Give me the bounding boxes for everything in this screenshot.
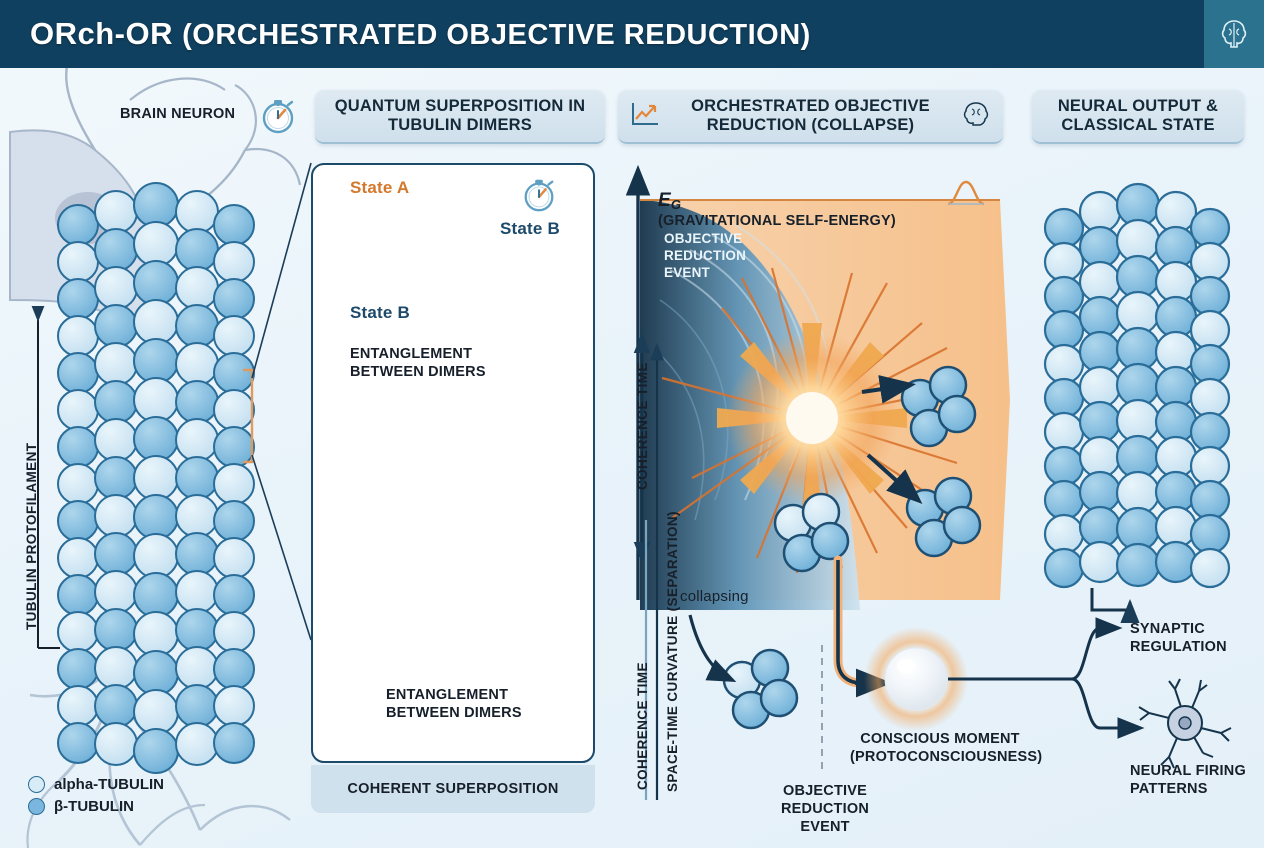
section-header-neural[interactable]: NEURAL OUTPUT & CLASSICAL STATE xyxy=(1032,90,1244,144)
coherent-superposition-footer: COHERENT SUPERPOSITION xyxy=(311,765,595,813)
tubulin-protofilament-label: TUBULIN PROTOFILAMENT xyxy=(24,443,39,630)
title-main: ORch-OR xyxy=(30,16,173,51)
tubulin-legend: alpha-TUBULIN β-TUBULIN xyxy=(28,776,164,820)
neural-firing-patterns-label: NEURAL FIRING PATTERNS xyxy=(1130,762,1246,798)
diagram-canvas: ORch-OR (ORCHESTRATED OBJECTIVE REDUCTIO… xyxy=(0,0,1264,848)
objective-reduction-event-label: OBJECTIVE REDUCTION EVENT xyxy=(760,782,890,836)
page-title: ORch-OR (ORCHESTRATED OBJECTIVE REDUCTIO… xyxy=(0,16,811,52)
title-subtitle: (ORCHESTRATED OBJECTIVE REDUCTION) xyxy=(182,19,811,51)
legend-label-beta: β-TUBULIN xyxy=(54,798,134,815)
legend-label-alpha: alpha-TUBULIN xyxy=(54,776,164,793)
eg-axis-label: EG (GRAVITATIONAL SELF-ENERGY) xyxy=(658,171,896,231)
tubulin-protofilament-left xyxy=(38,163,311,773)
legend-swatch-beta xyxy=(28,798,45,815)
coherence-time-lower-label: COHERENCE TIME xyxy=(635,662,650,790)
synaptic-regulation-label: SYNAPTIC REGULATION xyxy=(1130,620,1227,656)
eg-description: (GRAVITATIONAL SELF-ENERGY) xyxy=(658,213,896,229)
legend-swatch-alpha xyxy=(28,776,45,793)
objective-reduction-event-overlay-label: OBJECTIVE REDUCTION EVENT xyxy=(664,231,746,282)
section-header-neural-label: NEURAL OUTPUT & CLASSICAL STATE xyxy=(1044,97,1232,136)
conscious-moment-label: CONSCIOUS MOMENT (PROTOCONSCIOUSNESS) xyxy=(850,730,1030,766)
state-b-left-label: State B xyxy=(350,303,410,323)
spacetime-curvature-label: SPACE-TIME CURVATURE (SEPARATION) xyxy=(665,511,680,792)
section-header-quantum[interactable]: QUANTUM SUPERPOSITION IN TUBULIN DIMERS xyxy=(315,90,605,144)
entanglement-lower-label: ENTANGLEMENT BETWEEN DIMERS xyxy=(386,686,522,722)
brain-icon xyxy=(1204,0,1264,68)
coherent-superposition-label: COHERENT SUPERPOSITION xyxy=(347,781,558,797)
eg-subscript: G xyxy=(671,197,681,212)
collapsing-label: collapsing xyxy=(680,588,749,606)
section-header-orch-or-label: ORCHESTRATED OBJECTIVE REDUCTION (COLLAP… xyxy=(669,97,952,136)
line-chart-icon xyxy=(630,100,660,133)
superposition-card xyxy=(311,163,595,763)
coherence-time-upper-label: COHERENCE TIME xyxy=(635,362,650,490)
eg-symbol: E xyxy=(658,190,671,211)
section-header-orch-or[interactable]: ORCHESTRATED OBJECTIVE REDUCTION (COLLAP… xyxy=(618,90,1003,144)
state-b-top-label: State B xyxy=(500,219,560,239)
brain-neuron-label: BRAIN NEURON xyxy=(120,106,235,123)
state-a-label: State A xyxy=(350,178,409,198)
legend-item-alpha: alpha-TUBULIN xyxy=(28,776,164,793)
section-header-quantum-label: QUANTUM SUPERPOSITION IN TUBULIN DIMERS xyxy=(327,97,593,136)
entanglement-upper-label: ENTANGLEMENT BETWEEN DIMERS xyxy=(350,345,486,381)
stopwatch-icon-card xyxy=(520,176,558,219)
legend-item-beta: β-TUBULIN xyxy=(28,798,164,815)
app-header: ORch-OR (ORCHESTRATED OBJECTIVE REDUCTIO… xyxy=(0,0,1264,68)
stopwatch-icon xyxy=(258,96,298,141)
neuron-icon xyxy=(1139,679,1231,768)
brain-icon-small xyxy=(961,100,991,132)
